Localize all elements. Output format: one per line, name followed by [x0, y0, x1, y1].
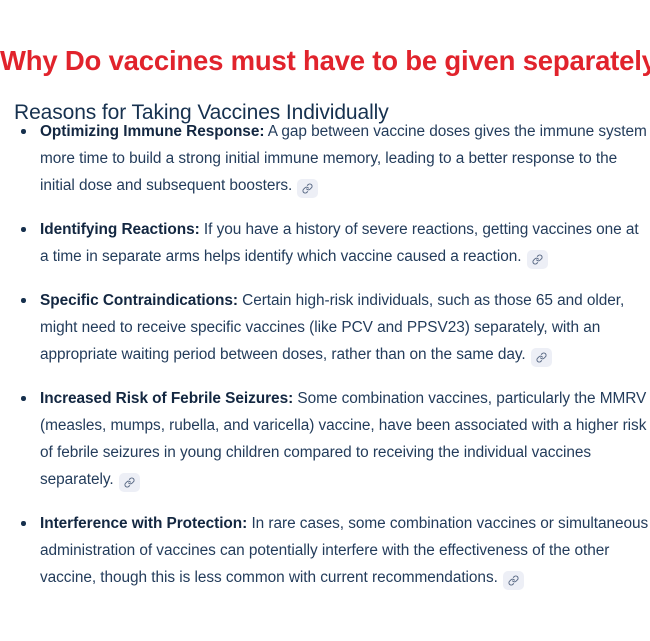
- link-icon[interactable]: [531, 348, 552, 367]
- reason-term: Optimizing Immune Response:: [40, 123, 264, 140]
- link-icon[interactable]: [527, 250, 548, 269]
- bullet-icon: [21, 298, 26, 303]
- bullet-icon: [21, 227, 26, 232]
- reason-term: Increased Risk of Febrile Seizures:: [40, 390, 293, 407]
- article-page: Why Do vaccines must have to be given se…: [0, 0, 650, 641]
- link-icon[interactable]: [297, 179, 318, 198]
- list-item: Interference with Protection: In rare ca…: [14, 510, 650, 591]
- list-item: Identifying Reactions: If you have a his…: [14, 216, 650, 270]
- link-icon[interactable]: [503, 571, 524, 590]
- bullet-icon: [21, 521, 26, 526]
- reasons-list: Optimizing Immune Response: A gap betwee…: [14, 118, 650, 591]
- list-item: Specific Contraindications: Certain high…: [14, 287, 650, 368]
- link-icon[interactable]: [119, 473, 140, 492]
- list-item: Optimizing Immune Response: A gap betwee…: [14, 118, 650, 199]
- reason-term: Interference with Protection:: [40, 515, 247, 532]
- bullet-icon: [21, 129, 26, 134]
- reason-term: Specific Contraindications:: [40, 292, 238, 309]
- page-title: Why Do vaccines must have to be given se…: [0, 44, 650, 78]
- bullet-icon: [21, 396, 26, 401]
- reason-term: Identifying Reactions:: [40, 221, 200, 238]
- list-item: Increased Risk of Febrile Seizures: Some…: [14, 385, 650, 493]
